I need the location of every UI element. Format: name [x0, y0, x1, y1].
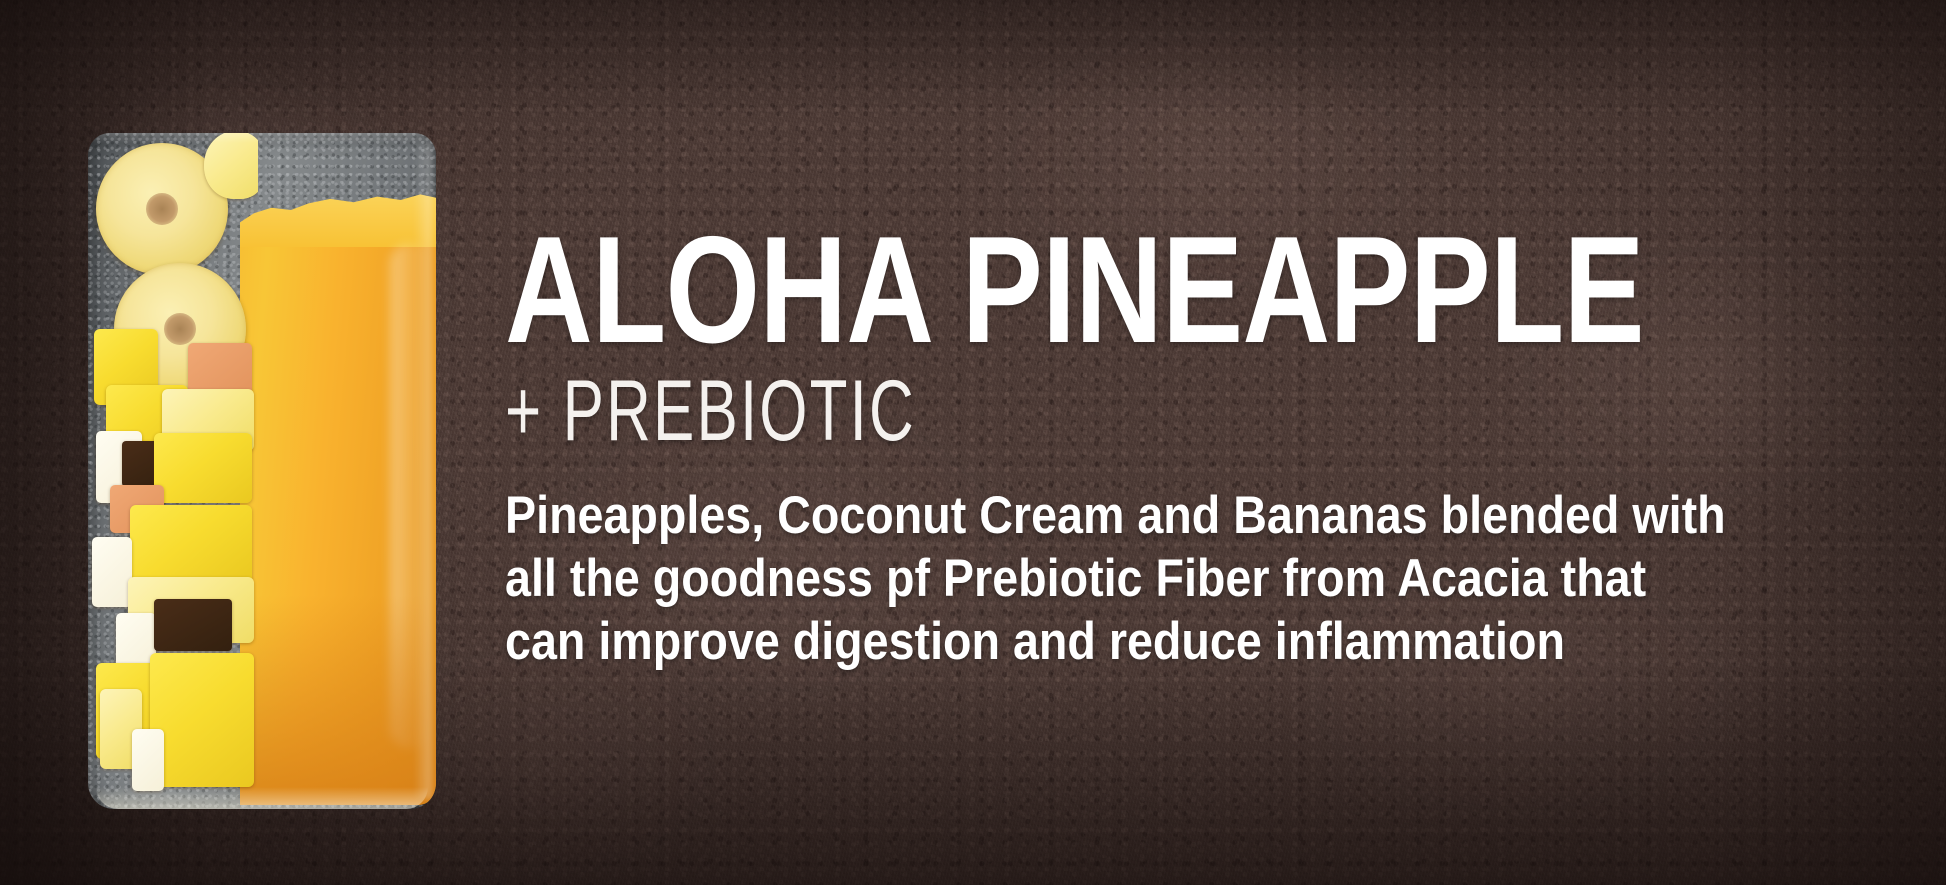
description-line: can improve digestion and reduce inflamm…: [505, 610, 1728, 673]
coconut-cream-bit: [92, 537, 132, 607]
product-title: ALOHA PINEAPPLE: [505, 225, 1617, 356]
pineapple-chunk: [150, 653, 254, 787]
product-image: [88, 133, 436, 809]
product-description: Pineapples, Coconut Cream and Bananas bl…: [505, 484, 1728, 673]
fruit-chunks: [88, 133, 258, 809]
pineapple-chunk: [154, 433, 252, 503]
product-subtitle: + PREBIOTIC: [505, 368, 1506, 454]
coconut-cream-bit: [132, 729, 164, 791]
description-line: Pineapples, Coconut Cream and Bananas bl…: [505, 484, 1728, 547]
cup-base: [96, 787, 428, 809]
dark-fruit-bit: [154, 599, 232, 651]
description-line: all the goodness pf Prebiotic Fiber from…: [505, 547, 1728, 610]
copy-block: ALOHA PINEAPPLE + PREBIOTIC Pineapples, …: [505, 225, 1895, 673]
smoothie-shade: [240, 595, 436, 805]
pineapple-chunk: [130, 505, 252, 583]
cup-rim: [88, 133, 436, 143]
cup-highlight: [414, 141, 432, 799]
smoothie-cup: [88, 133, 436, 809]
product-banner: ALOHA PINEAPPLE + PREBIOTIC Pineapples, …: [0, 0, 1946, 885]
